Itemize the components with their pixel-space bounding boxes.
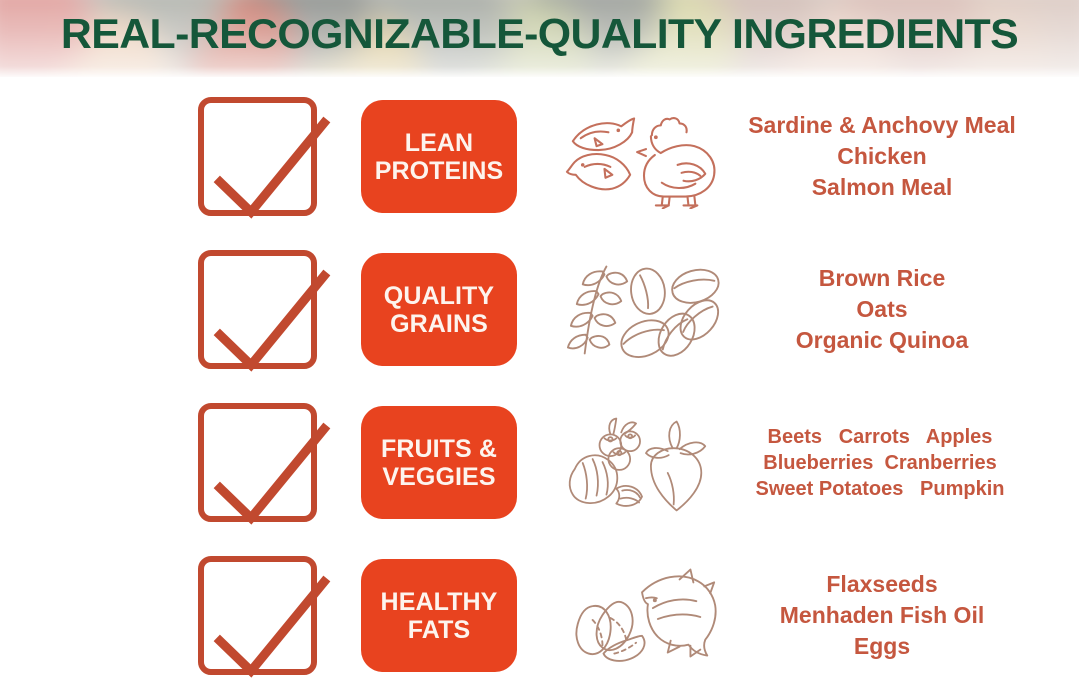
ingredient-line: Oats (733, 294, 1031, 325)
badge-fruits-veggies[interactable]: FRUITS & VEGGIES (361, 406, 517, 519)
checkbox-lean-proteins[interactable] (198, 97, 317, 216)
ingredient-line: Organic Quinoa (733, 325, 1031, 356)
badge-line-2: FATS (381, 616, 498, 644)
badge-line-1: HEALTHY (381, 588, 498, 616)
checkbox-fruits-veggies[interactable] (198, 403, 317, 522)
ingredient-line: Salmon Meal (733, 172, 1031, 203)
badge-line-1: LEAN (405, 129, 473, 157)
berries-sweet-potato-beet-icon (559, 408, 727, 518)
badge-line-1: QUALITY (384, 282, 494, 310)
header-banner: REAL-RECOGNIZABLE-QUALITY INGREDIENTS (0, 0, 1079, 77)
ingredient-line: Flaxseeds (733, 569, 1031, 600)
infographic-page: REAL-RECOGNIZABLE-QUALITY INGREDIENTS LE… (0, 0, 1079, 682)
wheat-and-grains-icon (559, 255, 727, 365)
ingredient-list-lean-proteins: Sardine & Anchovy Meal Chicken Salmon Me… (727, 110, 1079, 203)
ingredient-row: LEAN PROTEINS (0, 80, 1079, 233)
ingredient-line: Sardine & Anchovy Meal (733, 110, 1031, 141)
badge-line-2: GRAINS (384, 310, 494, 338)
badge-line-2: VEGGIES (381, 463, 497, 491)
fish-and-chicken-icon (559, 102, 727, 212)
badge-quality-grains[interactable]: QUALITY GRAINS (361, 253, 517, 366)
ingredient-line: Menhaden Fish Oil (733, 600, 1031, 631)
ingredient-line: Brown Rice (733, 263, 1031, 294)
ingredient-row: QUALITY GRAINS (0, 233, 1079, 386)
checkbox-quality-grains[interactable] (198, 250, 317, 369)
ingredient-list-fruits-veggies: Beets Carrots Apples Blueberries Cranber… (727, 424, 1079, 502)
ingredient-rows: LEAN PROTEINS (0, 77, 1079, 682)
badge-healthy-fats[interactable]: HEALTHY FATS (361, 559, 517, 672)
badge-lean-proteins[interactable]: LEAN PROTEINS (361, 100, 517, 213)
badge-line-2: PROTEINS (375, 157, 504, 185)
checkbox-healthy-fats[interactable] (198, 556, 317, 675)
ingredient-line: Beets Carrots Apples (733, 424, 1027, 450)
flaxseeds-and-fish-icon (559, 561, 727, 671)
ingredient-list-quality-grains: Brown Rice Oats Organic Quinoa (727, 263, 1079, 356)
ingredient-list-healthy-fats: Flaxseeds Menhaden Fish Oil Eggs (727, 569, 1079, 662)
ingredient-line: Eggs (733, 631, 1031, 662)
ingredient-row: FRUITS & VEGGIES (0, 386, 1079, 539)
badge-line-1: FRUITS & (381, 435, 497, 463)
ingredient-line: Blueberries Cranberries (733, 450, 1027, 476)
ingredient-row: HEALTHY FATS (0, 539, 1079, 682)
ingredient-line: Chicken (733, 141, 1031, 172)
page-title: REAL-RECOGNIZABLE-QUALITY INGREDIENTS (0, 6, 1079, 62)
ingredient-line: Sweet Potatoes Pumpkin (733, 476, 1027, 502)
